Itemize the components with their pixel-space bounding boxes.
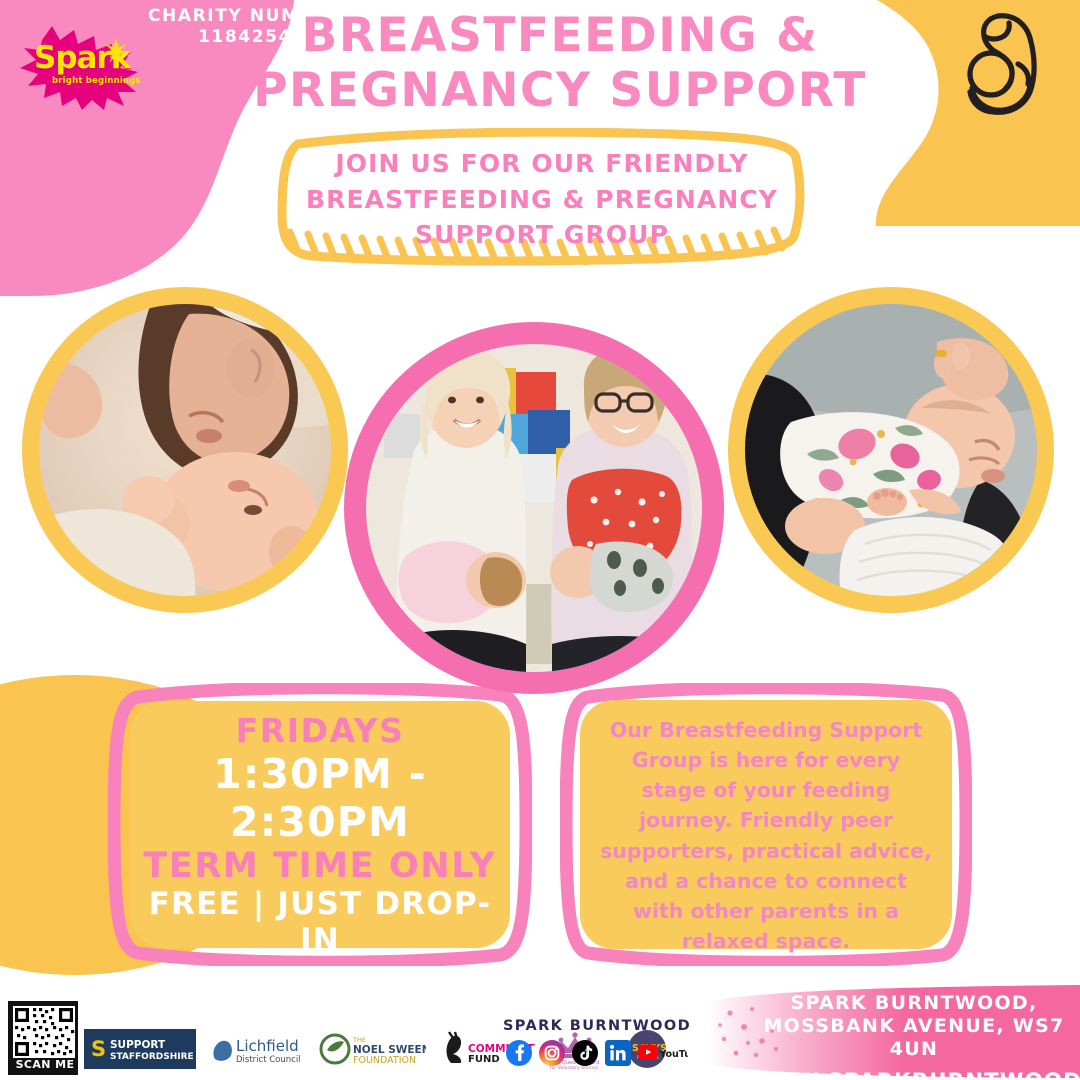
svg-text:District Council: District Council [236,1055,301,1065]
subtitle-line1: JOIN US FOR OUR FRIENDLY [302,146,782,182]
svg-text:Lichfield: Lichfield [236,1037,299,1055]
subtitle-callout: JOIN US FOR OUR FRIENDLY BREASTFEEDING &… [272,128,812,268]
svg-text:FOUNDATION: FOUNDATION [353,1055,416,1066]
schedule-day: FRIDAYS [142,711,498,750]
address-line-1: SPARK BURNTWOOD, [746,992,1080,1015]
linkedin-icon[interactable] [605,1040,631,1066]
page-title: BREASTFEEDING & PREGNANCY SUPPORT [250,8,870,119]
photo-image [745,304,1037,596]
qr-code-block[interactable]: SCAN ME [8,1001,78,1075]
schedule-content: FRIDAYS 1:30PM - 2:30PM TERM TIME ONLY F… [142,711,498,944]
address-line-2: MOSSBANK AVENUE, WS7 4UN [746,1015,1080,1061]
schedule-card: FRIDAYS 1:30PM - 2:30PM TERM TIME ONLY F… [108,683,532,966]
social-block: SPARK BURNTWOOD [492,1018,702,1066]
noel-sweeney-foundation-logo: THE NOEL SWEENEY FOUNDATION [318,1029,426,1069]
subtitle-line2: BREASTFEEDING & PREGNANCY [302,182,782,218]
qr-scan-me-label: SCAN ME [10,1058,80,1071]
page-title-line2: PREGNANCY SUPPORT [250,63,870,118]
photo-mother-nose-to-nose-with-baby [22,287,348,613]
support-staffordshire-logo: S SUPPORT STAFFORDSHIRE [84,1029,196,1069]
svg-text:SUPPORT: SUPPORT [110,1039,166,1051]
address-text: SPARK BURNTWOOD, MOSSBANK AVENUE, WS7 4U… [746,992,1080,1080]
tiktok-icon[interactable] [572,1040,598,1066]
subtitle-line3: SUPPORT GROUP [302,217,782,253]
photo-inner [39,304,331,596]
svg-text:S: S [91,1037,106,1061]
photo-two-mothers-breastfeeding-babies [344,322,724,694]
facebook-icon[interactable] [506,1040,532,1066]
photo-image [366,344,702,672]
mother-and-baby-icon [948,6,1060,124]
youtube-icon[interactable]: YouTube [638,1041,688,1065]
svg-text:THE: THE [352,1036,366,1044]
lichfield-district-council-logo: Lichfield District Council [205,1029,309,1069]
page-title-line1: BREASTFEEDING & [250,8,870,63]
description-card: Our Breastfeeding Support Group is here … [560,683,972,966]
poster-canvas: Spark bright beginnings CHARITY NUMBER 1… [0,0,1080,1080]
address-banner: SPARK BURNTWOOD, MOSSBANK AVENUE, WS7 4U… [706,983,1080,1080]
social-icons-row: YouTube [492,1040,702,1066]
photo-inner [745,304,1037,596]
photo-inner [366,344,702,672]
instagram-icon[interactable] [539,1040,565,1066]
description-text: Our Breastfeeding Support Group is here … [600,715,932,946]
schedule-price: FREE | JUST DROP-IN [142,886,498,958]
photo-image [39,304,331,596]
website-url[interactable]: WWW.SPARKBURNTWOOD.CO.UK [746,1069,1080,1080]
photo-sleeping-newborn-in-floral-swaddle [728,287,1054,613]
social-handle: SPARK BURNTWOOD [492,1018,702,1034]
qr-code-icon [13,1006,75,1058]
schedule-time: 1:30PM - 2:30PM [142,750,498,846]
schedule-term: TERM TIME ONLY [142,846,498,886]
svg-text:YouTube: YouTube [659,1049,689,1060]
spark-logo-tagline: bright beginnings [52,76,141,86]
svg-text:STAFFORDSHIRE: STAFFORDSHIRE [110,1052,194,1062]
subtitle-text: JOIN US FOR OUR FRIENDLY BREASTFEEDING &… [302,146,782,253]
